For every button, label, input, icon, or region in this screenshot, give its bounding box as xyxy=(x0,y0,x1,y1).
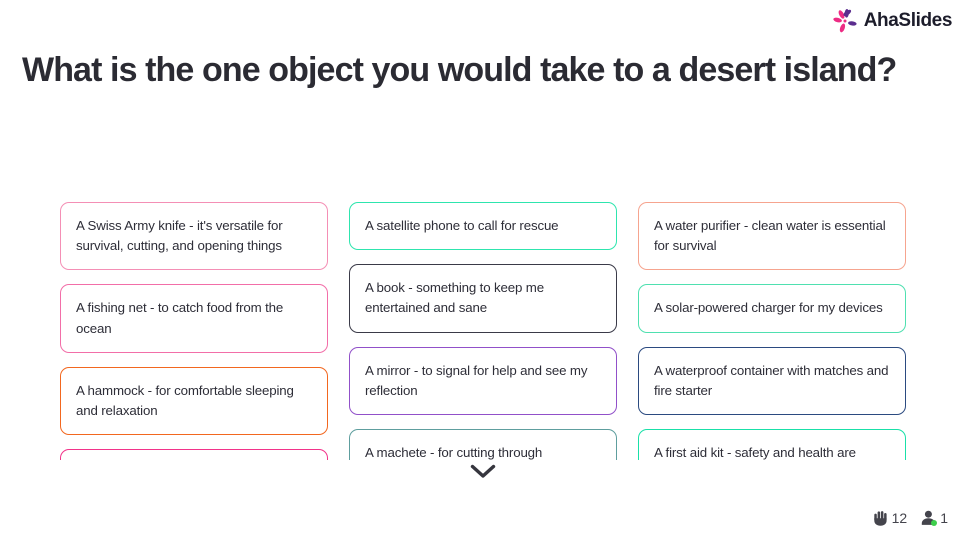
answer-text: A fishing net - to catch food from the o… xyxy=(76,298,312,338)
answer-card[interactable]: A waterproof container with matches and … xyxy=(638,347,906,415)
reaction-count-label: 12 xyxy=(892,510,908,526)
answer-card[interactable]: A Swiss Army knife - it's versatile for … xyxy=(60,202,328,270)
reaction-count[interactable]: 12 xyxy=(873,510,908,526)
answer-card[interactable]: A hammock - for comfortable sleeping and… xyxy=(60,367,328,435)
answer-card[interactable]: A first aid kit - safety and health are xyxy=(638,429,906,460)
answer-card[interactable]: A book - something to keep me entertaine… xyxy=(349,264,617,332)
answer-text: A satellite phone to call for rescue xyxy=(365,216,558,236)
chevron-down-icon xyxy=(470,464,496,479)
answer-card[interactable]: A machete - for cutting through vegetati… xyxy=(349,429,617,460)
answer-card[interactable]: A water purifier - clean water is essent… xyxy=(638,202,906,270)
participant-count[interactable]: 1 xyxy=(921,510,948,526)
answer-text: A waterproof container with matches and … xyxy=(654,361,890,401)
answer-text: A mirror - to signal for help and see my… xyxy=(365,361,601,401)
raised-hand-icon xyxy=(873,510,888,526)
answer-text: A water purifier - clean water is essent… xyxy=(654,216,890,256)
online-indicator-dot xyxy=(931,520,937,526)
answer-text: A Swiss Army knife - it's versatile for … xyxy=(76,216,312,256)
participant-count-label: 1 xyxy=(940,510,948,526)
answers-column-2: A satellite phone to call for rescue A b… xyxy=(349,202,617,460)
brand-name: AhaSlides xyxy=(864,10,952,32)
answer-card[interactable]: A mirror - to signal for help and see my… xyxy=(349,347,617,415)
scroll-down-button[interactable] xyxy=(0,458,966,484)
brand-logo: AhaSlides xyxy=(832,8,952,34)
starburst-icon xyxy=(832,8,858,34)
answer-text: A hammock - for comfortable sleeping and… xyxy=(76,381,312,421)
answer-text: A book - something to keep me entertaine… xyxy=(365,278,601,318)
answers-column-3: A water purifier - clean water is essent… xyxy=(638,202,906,460)
answers-columns: A Swiss Army knife - it's versatile for … xyxy=(60,202,906,460)
answers-column-1: A Swiss Army knife - it's versatile for … xyxy=(60,202,328,460)
person-icon xyxy=(921,510,936,526)
footer-stats: 12 1 xyxy=(873,510,948,526)
question-title: What is the one object you would take to… xyxy=(22,50,902,90)
answer-card[interactable]: A satellite phone to call for rescue xyxy=(349,202,617,250)
answer-text: A solar-powered charger for my devices xyxy=(654,298,883,318)
answer-card[interactable]: A fishing net - to catch food from the o… xyxy=(60,284,328,352)
answer-card[interactable]: A solar-powered charger for my devices xyxy=(638,284,906,332)
answers-board[interactable]: A Swiss Army knife - it's versatile for … xyxy=(60,202,906,460)
